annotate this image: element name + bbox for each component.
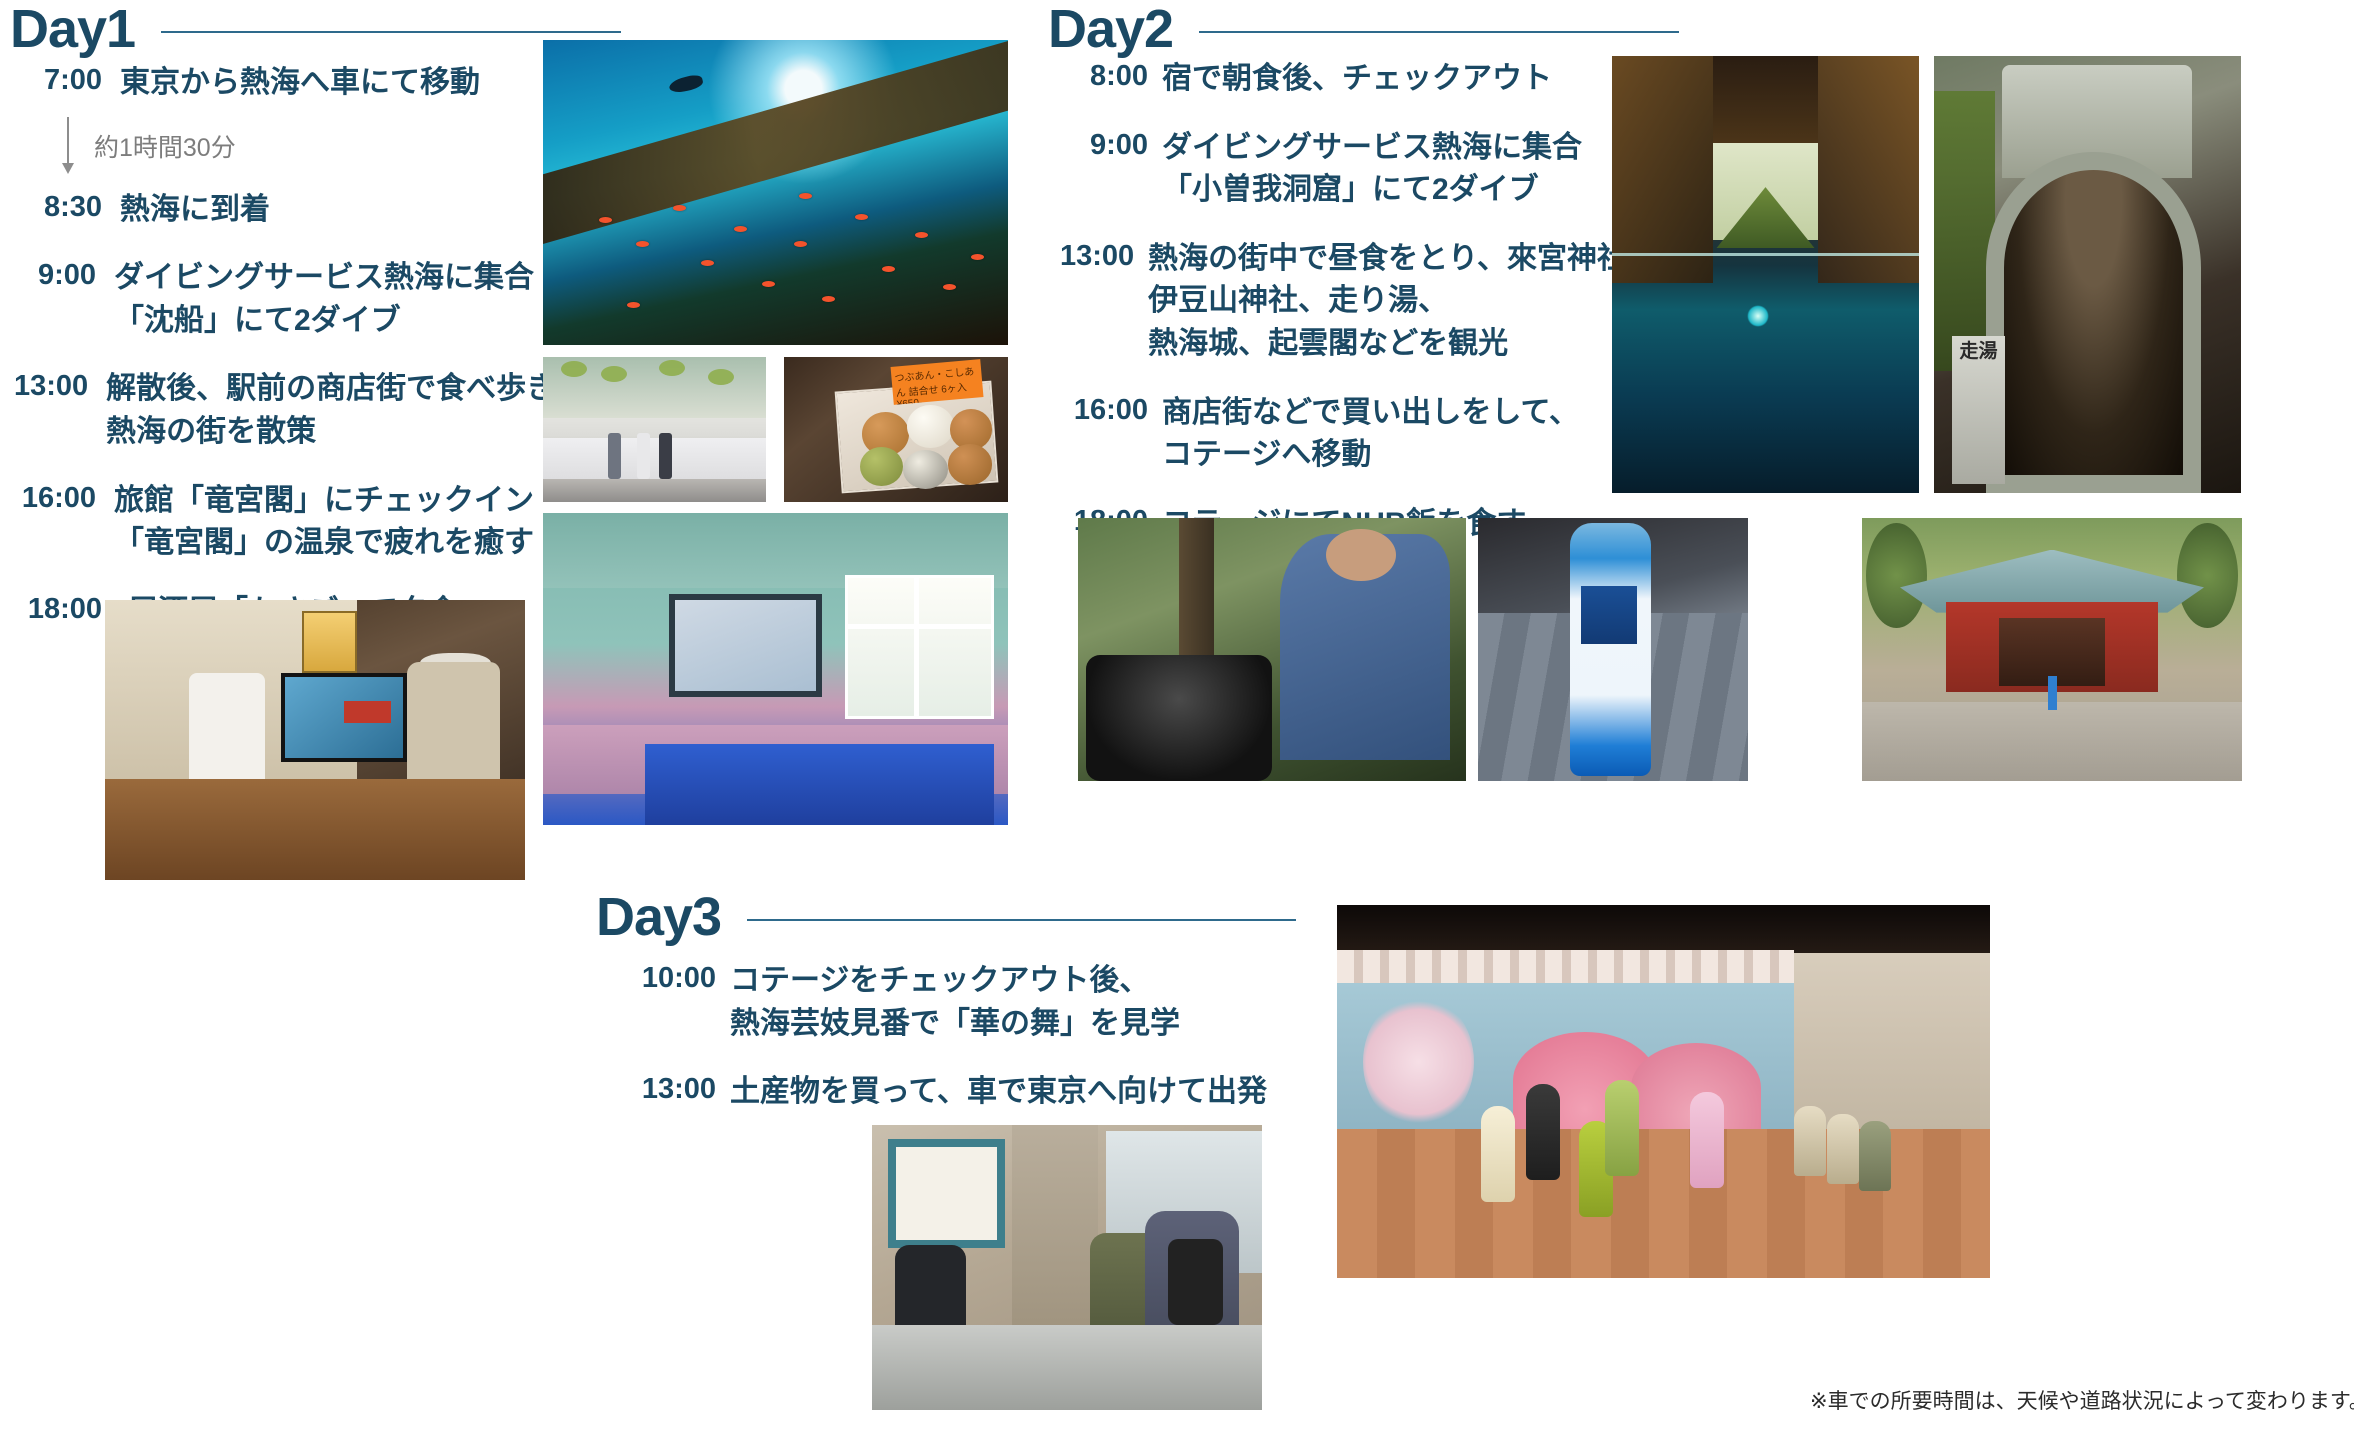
desc-seg: 旅館「 xyxy=(114,484,204,517)
day3-title: Day3 xyxy=(596,890,721,944)
item-time: 9:00 xyxy=(14,257,96,292)
schedule-item: 8:00 宿で朝食後、チェックアウト xyxy=(1060,58,1620,101)
schedule-item: 16:00 商店街などで買い出しをして、 コテージへ移動 xyxy=(1060,392,1620,477)
day2-title: Day2 xyxy=(1048,2,1173,56)
item-desc: 解散後、駅前の商店街で食べ歩き 熱海の街を散策 xyxy=(106,368,556,453)
photo-izusan-shrine xyxy=(1862,518,2242,781)
desc-seg-strong: 竜宮閣 xyxy=(204,484,294,517)
item-desc: 土産物を買って、車で東京へ向けて出発 xyxy=(730,1071,1267,1114)
day3-header: Day3 xyxy=(596,890,1296,944)
item-time: 13:00 xyxy=(608,1071,716,1106)
desc-line: 「小曽我洞窟」にて2ダイブ xyxy=(1162,169,1582,212)
desc-line: 熱海に到着 xyxy=(120,189,270,232)
item-desc: 東京から熱海へ車にて移動 xyxy=(120,62,480,105)
desc-seg: 」にチェックイン xyxy=(294,484,534,517)
down-arrow-icon xyxy=(58,117,80,175)
photo-wreck-dive xyxy=(543,40,1008,345)
photo-souvenir-shop xyxy=(872,1125,1262,1410)
item-desc: 商店街などで買い出しをして、 コテージへ移動 xyxy=(1162,392,1579,477)
desc-line: コテージへ移動 xyxy=(1162,434,1579,477)
day2-rule xyxy=(1199,31,1679,33)
item-desc: 宿で朝食後、チェックアウト xyxy=(1162,58,1552,101)
photo-atami-town xyxy=(543,357,766,502)
schedule-item: 9:00 ダイビングサービス熱海に集合 「沈船」にて2ダイブ xyxy=(14,257,534,342)
photo-izakaya-kasago xyxy=(105,600,525,880)
photo-sake-bottle xyxy=(1478,518,1748,781)
day3-schedule: 10:00 コテージをチェックアウト後、 熱海芸妓見番で「華の舞」を見学 13:… xyxy=(608,960,1268,1140)
desc-line: 熱海芸妓見番で「華の舞」を見学 xyxy=(730,1003,1180,1046)
desc-line: 旅館「竜宮閣」にチェックイン xyxy=(114,480,534,523)
itinerary-page: Day1 7:00 東京から熱海へ車にて移動 約1時間30分 8:30 熱海に到… xyxy=(0,0,2354,1442)
item-time: 10:00 xyxy=(608,960,716,995)
desc-line: 熱海の街を散策 xyxy=(106,411,556,454)
day2-schedule: 8:00 宿で朝食後、チェックアウト 9:00 ダイビングサービス熱海に集合 「… xyxy=(1060,58,1620,571)
day2-header: Day2 xyxy=(1048,2,1768,56)
schedule-item: 13:00 解散後、駅前の商店街で食べ歩き 熱海の街を散策 xyxy=(14,368,534,453)
item-desc: ダイビングサービス熱海に集合 「沈船」にて2ダイブ xyxy=(114,257,534,342)
item-time: 7:00 xyxy=(14,62,102,97)
hashiriyu-marker: 走湯 xyxy=(1952,336,2004,485)
schedule-item: 13:00 土産物を買って、車で東京へ向けて出発 xyxy=(608,1071,1268,1114)
day1-title: Day1 xyxy=(10,2,135,56)
desc-seg-strong: 沈船 xyxy=(144,304,204,337)
duration-connector: 約1時間30分 xyxy=(14,117,534,175)
item-desc: 旅館「竜宮閣」にチェックイン 「竜宮閣」の温泉で疲れを癒す xyxy=(114,480,534,565)
desc-seg: 「 xyxy=(1162,173,1192,206)
desc-line: 宿で朝食後、チェックアウト xyxy=(1162,58,1552,101)
photo-hashiriyu-tunnel: 走湯 xyxy=(1934,56,2241,493)
footnote: ※車での所要時間は、天候や道路状況によって変わります。 xyxy=(1810,1385,2354,1415)
desc-seg: 」にて2ダイブ xyxy=(1342,173,1539,206)
item-time: 9:00 xyxy=(1060,127,1148,162)
manju-price-tag: つぶあん・こしあん 詰合せ 6ヶ入 ¥650- xyxy=(890,359,983,404)
photo-ryugukaku-onsen xyxy=(543,513,1008,825)
desc-seg: 熱海芸妓見番で「 xyxy=(730,1007,970,1040)
item-desc: コテージをチェックアウト後、 熱海芸妓見番で「華の舞」を見学 xyxy=(730,960,1180,1045)
schedule-item: 9:00 ダイビングサービス熱海に集合 「小曽我洞窟」にて2ダイブ xyxy=(1060,127,1620,212)
day1-rule xyxy=(161,31,621,33)
desc-line: 熱海の街中で昼食をとり、來宮神社、 xyxy=(1148,238,1657,281)
schedule-item: 10:00 コテージをチェックアウト後、 熱海芸妓見番で「華の舞」を見学 xyxy=(608,960,1268,1045)
desc-seg: 」を見学 xyxy=(1060,1007,1180,1040)
schedule-item: 13:00 熱海の街中で昼食をとり、來宮神社、 伊豆山神社、走り湯、 熱海城、起… xyxy=(1060,238,1620,366)
item-time: 18:00 xyxy=(14,591,102,626)
item-desc: 熱海の街中で昼食をとり、來宮神社、 伊豆山神社、走り湯、 熱海城、起雲閣などを観… xyxy=(1148,238,1657,366)
item-time: 8:30 xyxy=(14,189,102,224)
item-time: 16:00 xyxy=(14,480,96,515)
photo-osoga-cave xyxy=(1612,56,1919,493)
item-time: 13:00 xyxy=(1060,238,1134,273)
desc-line: ダイビングサービス熱海に集合 xyxy=(1162,127,1582,170)
desc-seg-strong: 華の舞 xyxy=(970,1007,1060,1040)
item-desc: 熱海に到着 xyxy=(120,189,270,232)
desc-line: 「沈船」にて2ダイブ xyxy=(114,300,534,343)
item-time: 13:00 xyxy=(14,368,88,403)
desc-line: 熱海城、起雲閣などを観光 xyxy=(1148,323,1657,366)
desc-line: コテージをチェックアウト後、 xyxy=(730,960,1180,1003)
item-desc: ダイビングサービス熱海に集合 「小曽我洞窟」にて2ダイブ xyxy=(1162,127,1582,212)
photo-bbq-cottage xyxy=(1078,518,1466,781)
day3-rule xyxy=(747,919,1296,921)
day1-schedule: 7:00 東京から熱海へ車にて移動 約1時間30分 8:30 熱海に到着 9:0… xyxy=(14,62,534,659)
desc-line: 解散後、駅前の商店街で食べ歩き xyxy=(106,368,556,411)
desc-seg: 「 xyxy=(114,304,144,337)
desc-line: 土産物を買って、車で東京へ向けて出発 xyxy=(730,1071,1267,1114)
desc-line: 「竜宮閣」の温泉で疲れを癒す xyxy=(114,522,534,565)
schedule-item: 7:00 東京から熱海へ車にて移動 xyxy=(14,62,534,105)
item-time: 8:00 xyxy=(1060,58,1148,93)
desc-line: ダイビングサービス熱海に集合 xyxy=(114,257,534,300)
schedule-item: 8:30 熱海に到着 xyxy=(14,189,534,232)
desc-seg-strong: 小曽我洞窟 xyxy=(1192,173,1342,206)
photo-manju-sweets: つぶあん・こしあん 詰合せ 6ヶ入 ¥650- xyxy=(784,357,1008,502)
schedule-item: 16:00 旅館「竜宮閣」にチェックイン 「竜宮閣」の温泉で疲れを癒す xyxy=(14,480,534,565)
item-time: 16:00 xyxy=(1060,392,1148,427)
photo-geisha-stage xyxy=(1337,905,1990,1278)
desc-line: 東京から熱海へ車にて移動 xyxy=(120,62,480,105)
marker-text: 走湯 xyxy=(1952,336,2004,363)
duration-label: 約1時間30分 xyxy=(94,128,236,164)
desc-line: 商店街などで買い出しをして、 xyxy=(1162,392,1579,435)
desc-line: 伊豆山神社、走り湯、 xyxy=(1148,280,1657,323)
desc-seg: 」にて2ダイブ xyxy=(204,304,401,337)
